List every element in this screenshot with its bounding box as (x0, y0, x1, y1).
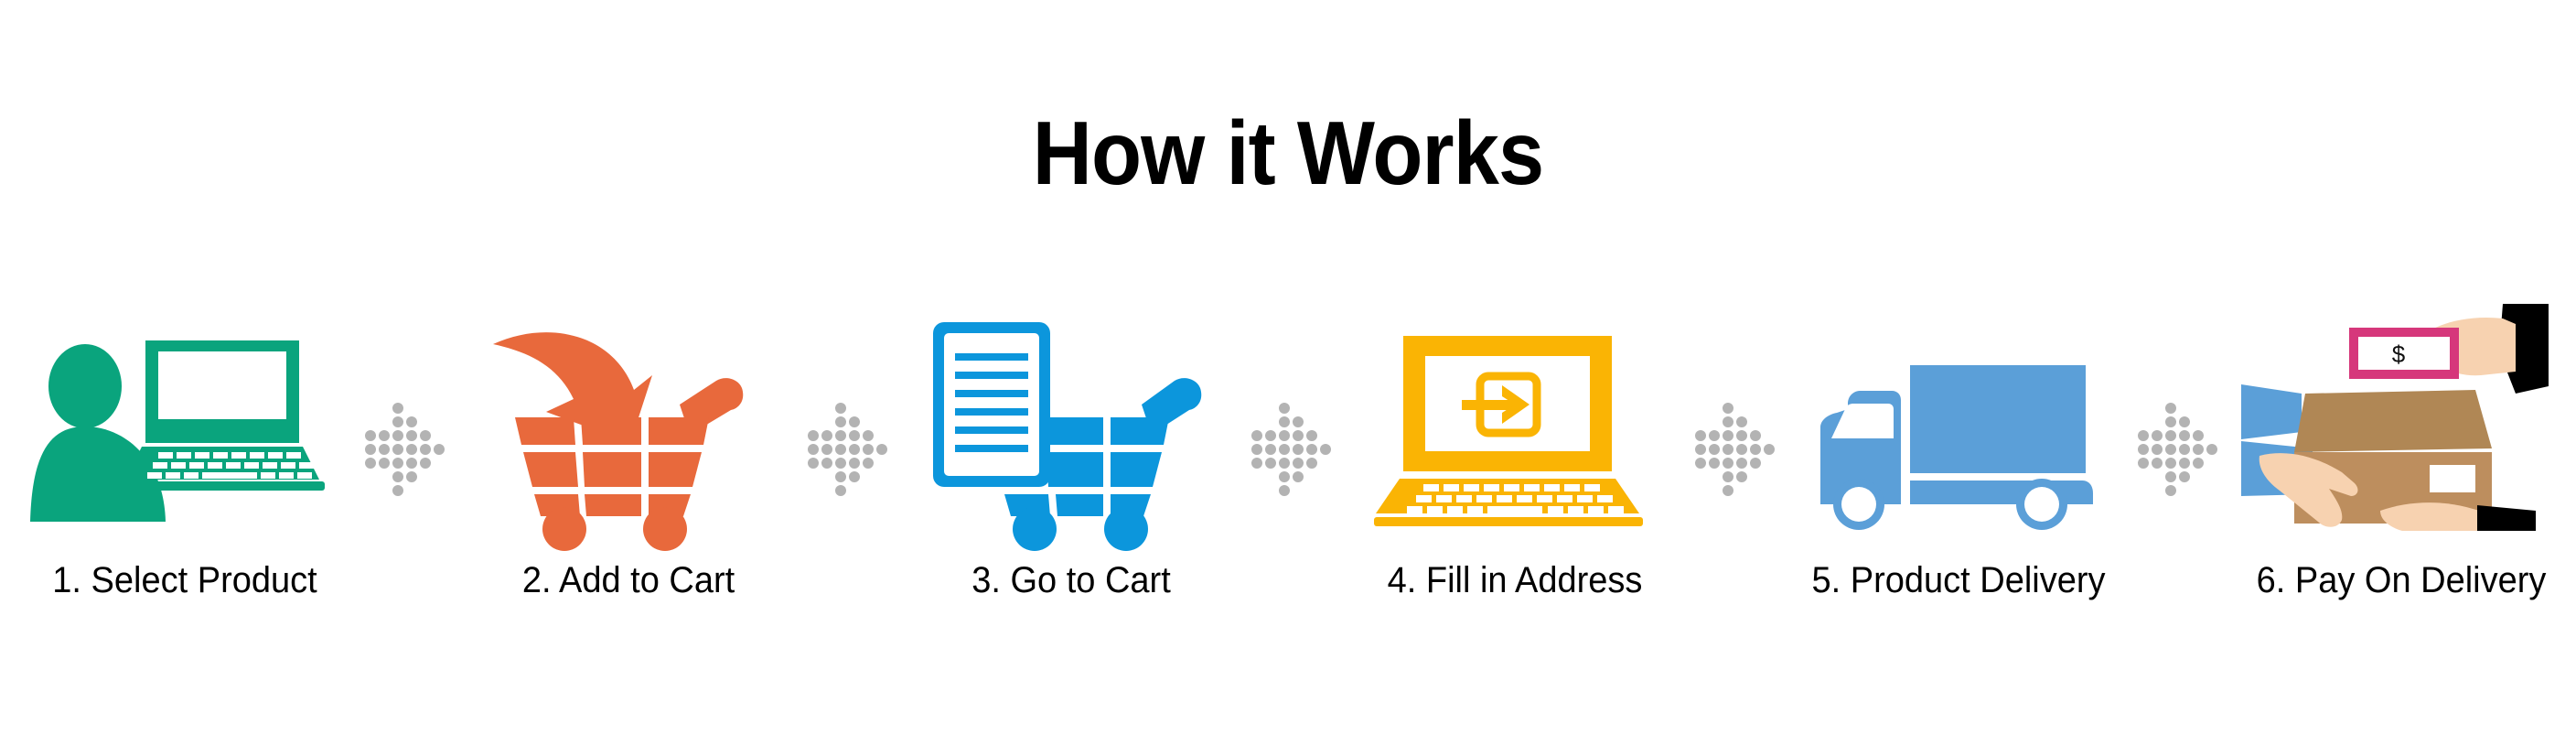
dotted-arrow-right-icon (360, 302, 444, 613)
cart-with-document-icon (902, 302, 1231, 531)
step-label: 3. Go to Cart (896, 560, 1247, 601)
step-fill-in-address[interactable]: 4. Fill in Address (1330, 302, 1690, 613)
dotted-arrow-right-icon (802, 302, 886, 613)
step-label: 6. Pay On Delivery (2226, 560, 2576, 601)
hands-box-money-icon: $ (2232, 302, 2561, 531)
step-label: 2. Add to Cart (453, 560, 804, 601)
dotted-arrow-right-icon (2132, 302, 2216, 613)
step-label: 4. Fill in Address (1339, 560, 1690, 601)
step-label: 5. Product Delivery (1783, 560, 2134, 601)
delivery-truck-icon (1788, 302, 2118, 531)
dotted-arrow-right-icon (1690, 302, 1774, 613)
step-label: 1. Select Product (9, 560, 360, 601)
step-product-delivery[interactable]: 5. Product Delivery (1774, 302, 2133, 613)
banknote: $ (2349, 328, 2459, 379)
infographic-page: How it Works (0, 0, 2576, 745)
step-select-product[interactable]: 1. Select Product (0, 302, 360, 613)
dotted-arrow-right-icon (1246, 302, 1330, 613)
laptop-login-icon (1345, 302, 1674, 531)
page-title: How it Works (103, 108, 2474, 198)
cart-with-arrow-icon (458, 302, 788, 531)
step-add-to-cart[interactable]: 2. Add to Cart (444, 302, 803, 613)
banknote-symbol: $ (2391, 340, 2405, 368)
person-with-laptop-icon (15, 302, 344, 531)
step-go-to-cart[interactable]: 3. Go to Cart (886, 302, 1246, 613)
steps-strip: 1. Select Product (0, 302, 2576, 613)
step-pay-on-delivery[interactable]: $ (2216, 302, 2576, 613)
